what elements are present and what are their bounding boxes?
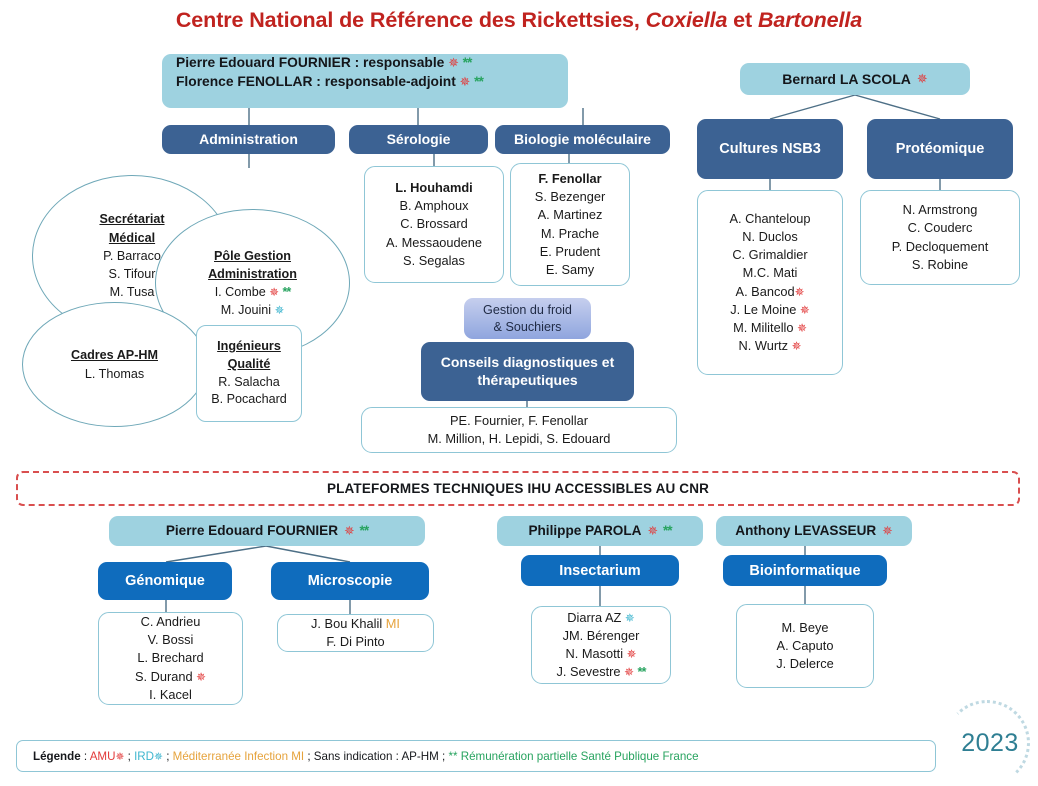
biomol-member: S. Bezenger <box>535 188 605 206</box>
secretariat-head-line2: Médical <box>109 229 155 247</box>
genomique-member: I. Kacel <box>149 686 192 704</box>
pole-gestion-head-line2: Administration <box>208 265 297 283</box>
leadership-role-adjoint: : responsable-adjoint <box>312 74 455 89</box>
member-name: M. Militello <box>733 320 793 335</box>
title-part-1: Centre National de Référence des Rickett… <box>176 8 646 32</box>
member-name: S. Durand <box>135 669 193 684</box>
cadres-head: Cadres AP-HM <box>71 346 158 364</box>
member-name: Diarra AZ <box>567 610 621 625</box>
organigramme-canvas: Centre National de Référence des Rickett… <box>0 0 1038 779</box>
amu-gear-icon: ✵ <box>797 323 807 335</box>
biomol-lead: F. Fenollar <box>538 170 601 188</box>
pole-gestion-member: I. Combe ✵ ** <box>215 283 291 301</box>
secretariat-member: M. Tusa <box>110 283 155 301</box>
microscopie-member: J. Bou Khalil MI <box>311 615 400 633</box>
legend-sep: : <box>81 750 90 763</box>
amu-gear-icon: ✵ <box>917 73 928 86</box>
member-name: J. Le Moine <box>730 302 796 317</box>
stars-icon: ** <box>283 285 291 299</box>
title-italic-coxiella: Coxiella <box>646 8 728 32</box>
card-bioinformatique-members[interactable]: M. Beye A. Caputo J. Delerce <box>736 604 874 688</box>
nsb3-member: N. Duclos <box>742 228 797 246</box>
genomique-member: C. Andrieu <box>141 613 201 631</box>
nsb3-member: M. Militello ✵ <box>733 319 807 337</box>
ingenieurs-head-line1: Ingénieurs <box>217 338 281 356</box>
leadership-name-fenollar: Florence FENOLLAR <box>176 74 312 89</box>
plateforme-head-name: Philippe PAROLA <box>528 522 641 540</box>
stars-icon: ** <box>360 522 369 540</box>
unit-label: Bioinformatique <box>749 563 860 579</box>
proteomique-member: S. Robine <box>912 256 968 274</box>
proteomique-member: P. Decloquement <box>892 238 989 256</box>
insectarium-member: JM. Bérenger <box>563 627 640 645</box>
box-conseils-diagnostiques[interactable]: Conseils diagnostiques et thérapeutiques <box>421 342 634 401</box>
member-name: N. Wurtz <box>739 338 789 353</box>
legend-ird: IRD <box>134 750 154 763</box>
la-scola-header-box[interactable]: Bernard LA SCOLA ✵ <box>740 63 970 95</box>
ird-gear-icon: ✵ <box>154 752 163 763</box>
amu-gear-icon: ✵ <box>344 525 354 538</box>
genomique-member: V. Bossi <box>148 631 194 649</box>
nsb3-member: A. Bancod✵ <box>736 283 805 301</box>
ird-gear-icon: ✵ <box>275 306 285 318</box>
conseils-line2: thérapeutiques <box>477 372 577 390</box>
amu-gear-icon: ✵ <box>624 667 634 679</box>
branch-cultures-nsb3[interactable]: Cultures NSB3 <box>697 119 843 179</box>
proteomique-member: N. Armstrong <box>903 201 978 219</box>
title-italic-bartonella: Bartonella <box>758 8 862 32</box>
nsb3-member: J. Le Moine ✵ <box>730 301 810 319</box>
serologie-member: A. Messaoudene <box>386 234 482 252</box>
branch-serologie[interactable]: Sérologie <box>349 125 488 154</box>
card-ingenieurs-qualite[interactable]: Ingénieurs Qualité R. Salacha B. Pocacha… <box>196 325 302 422</box>
nsb3-member: M.C. Mati <box>743 264 798 282</box>
card-serologie-members[interactable]: L. Houhamdi B. Amphoux C. Brossard A. Me… <box>364 166 504 283</box>
proteomique-member: C. Couderc <box>908 219 973 237</box>
ellipse-cadres-ap-hm[interactable]: Cadres AP-HM L. Thomas <box>22 302 207 427</box>
genomique-member: S. Durand ✵ <box>135 668 206 686</box>
unit-insectarium[interactable]: Insectarium <box>521 555 679 586</box>
amu-gear-icon: ✵ <box>800 305 810 317</box>
member-name: N. Masotti <box>565 646 623 661</box>
stars-icon: ** <box>474 74 483 89</box>
year-value: 2023 <box>961 729 1019 758</box>
member-name: M. Jouini <box>221 303 271 317</box>
card-conseils-members[interactable]: PE. Fournier, F. Fenollar M. Million, H.… <box>361 407 677 453</box>
amu-gear-icon: ✵ <box>460 76 471 89</box>
legend-sep: ; <box>124 750 134 763</box>
amu-gear-icon: ✵ <box>795 287 805 299</box>
leadership-line-1: Pierre Edouard FOURNIER : responsable ✵ … <box>176 54 471 73</box>
amu-gear-icon: ✵ <box>882 525 892 538</box>
member-name: J. Sevestre <box>557 664 621 679</box>
member-name: J. Bou Khalil <box>311 616 382 631</box>
mi-marker: MI <box>386 616 400 631</box>
legend-stars: ** Rémunération partielle Santé Publique… <box>448 750 698 763</box>
plateformes-banner-label: PLATEFORMES TECHNIQUES IHU ACCESSIBLES A… <box>327 481 709 496</box>
unit-microscopie[interactable]: Microscopie <box>271 562 429 600</box>
serologie-member: B. Amphoux <box>399 197 468 215</box>
legend-sep: ; <box>163 750 173 763</box>
box-gestion-du-froid[interactable]: Gestion du froid & Souchiers <box>464 298 591 339</box>
legend-content: Légende : AMU✵ ; IRD✵ ; Méditerranée Inf… <box>33 750 699 763</box>
biomol-member: E. Samy <box>546 261 594 279</box>
legend-bar[interactable]: Légende : AMU✵ ; IRD✵ ; Méditerranée Inf… <box>16 740 936 772</box>
card-biologie-moleculaire-members[interactable]: F. Fenollar S. Bezenger A. Martinez M. P… <box>510 163 630 286</box>
secretariat-member: S. Tifour <box>109 265 156 283</box>
leadership-name-fournier: Pierre Edouard FOURNIER <box>176 55 351 70</box>
amu-gear-icon: ✵ <box>627 649 637 661</box>
branch-biologie-moleculaire[interactable]: Biologie moléculaire <box>495 125 670 154</box>
branch-label: Protéomique <box>896 140 985 158</box>
biomol-member: A. Martinez <box>538 206 603 224</box>
unit-label: Génomique <box>125 573 205 589</box>
card-genomique-members[interactable]: C. Andrieu V. Bossi L. Brechard S. Duran… <box>98 612 243 705</box>
insectarium-member: J. Sevestre ✵ ** <box>557 663 646 681</box>
unit-genomique[interactable]: Génomique <box>98 562 232 600</box>
plateforme-head-parola[interactable]: Philippe PAROLA ✵ ** <box>497 516 703 546</box>
card-cultures-nsb3-members[interactable]: A. Chanteloup N. Duclos C. Grimaldier M.… <box>697 190 843 375</box>
branch-administration[interactable]: Administration <box>162 125 335 154</box>
biomol-member: M. Prache <box>541 225 599 243</box>
conseils-members-line1: PE. Fournier, F. Fenollar <box>450 412 588 430</box>
la-scola-name: Bernard LA SCOLA <box>782 70 911 89</box>
plateformes-banner[interactable]: PLATEFORMES TECHNIQUES IHU ACCESSIBLES A… <box>16 471 1020 506</box>
biomol-member: E. Prudent <box>540 243 600 261</box>
conseils-members-line2: M. Million, H. Lepidi, S. Edouard <box>428 430 611 448</box>
card-microscopie-members[interactable]: J. Bou Khalil MI F. Di Pinto <box>277 614 434 652</box>
legend-label: Légende <box>33 750 81 763</box>
gestion-froid-line2: & Souchiers <box>494 319 562 336</box>
leadership-line-2: Florence FENOLLAR : responsable-adjoint … <box>176 73 483 92</box>
cadres-member: L. Thomas <box>85 365 144 383</box>
branch-label: Biologie moléculaire <box>514 131 651 149</box>
amu-gear-icon: ✵ <box>196 672 206 684</box>
amu-gear-icon: ✵ <box>269 288 279 300</box>
amu-gear-icon: ✵ <box>792 341 802 353</box>
bioinformatique-member: J. Delerce <box>776 655 834 673</box>
branch-label: Cultures NSB3 <box>719 140 821 158</box>
legend-aphm: Sans indication : AP-HM <box>314 750 439 763</box>
stars-icon: ** <box>638 664 646 679</box>
legend-amu: AMU <box>90 750 116 763</box>
title-part-2: et <box>727 8 758 32</box>
legend-sep: ; <box>304 750 314 763</box>
amu-gear-icon: ✵ <box>647 525 657 538</box>
secretariat-member: P. Barraco <box>103 247 161 265</box>
ird-gear-icon: ✵ <box>625 613 635 625</box>
bioinformatique-member: M. Beye <box>782 619 829 637</box>
serologie-member: C. Brossard <box>400 215 468 233</box>
branch-proteomique[interactable]: Protéomique <box>867 119 1013 179</box>
amu-gear-icon: ✵ <box>448 57 459 70</box>
gestion-froid-line1: Gestion du froid <box>483 302 572 319</box>
secretariat-head-line1: Secrétariat <box>99 210 164 228</box>
plateforme-head-name: Anthony LEVASSEUR <box>735 522 876 540</box>
card-proteomique-members[interactable]: N. Armstrong C. Couderc P. Decloquement … <box>860 190 1020 285</box>
branch-label: Sérologie <box>387 131 451 149</box>
member-name: I. Combe <box>215 285 266 299</box>
ingenieurs-member: R. Salacha <box>218 374 280 392</box>
serologie-member: S. Segalas <box>403 252 465 270</box>
unit-label: Microscopie <box>308 573 393 589</box>
legend-mi: Méditerranée Infection MI <box>173 750 304 763</box>
leadership-header-box[interactable]: Pierre Edouard FOURNIER : responsable ✵ … <box>162 54 568 108</box>
unit-bioinformatique[interactable]: Bioinformatique <box>723 555 887 586</box>
card-insectarium-members[interactable]: Diarra AZ ✵ JM. Bérenger N. Masotti ✵ J.… <box>531 606 671 684</box>
stars-icon: ** <box>463 55 472 70</box>
year-label: 2023 <box>950 726 1030 760</box>
pole-gestion-head-line1: Pôle Gestion <box>214 247 291 265</box>
leadership-role-responsable: : responsable <box>351 55 445 70</box>
unit-label: Insectarium <box>559 563 640 579</box>
ingenieurs-head-line2: Qualité <box>228 356 271 374</box>
member-name: A. Bancod <box>736 284 795 299</box>
genomique-member: L. Brechard <box>137 649 203 667</box>
branch-label: Administration <box>199 131 298 149</box>
pole-gestion-member: M. Jouini ✵ <box>221 301 285 319</box>
conseils-line1: Conseils diagnostiques et <box>441 354 614 372</box>
plateforme-head-name: Pierre Edouard FOURNIER <box>166 522 338 540</box>
microscopie-member: F. Di Pinto <box>326 633 384 651</box>
ingenieurs-member: B. Pocachard <box>211 391 287 409</box>
page-title: Centre National de Référence des Rickett… <box>0 8 1038 33</box>
insectarium-member: N. Masotti ✵ <box>565 645 636 663</box>
plateforme-head-levasseur[interactable]: Anthony LEVASSEUR ✵ <box>716 516 912 546</box>
plateforme-head-fournier[interactable]: Pierre Edouard FOURNIER ✵ ** <box>109 516 425 546</box>
bioinformatique-member: A. Caputo <box>777 637 834 655</box>
insectarium-member: Diarra AZ ✵ <box>567 609 634 627</box>
serologie-lead: L. Houhamdi <box>395 179 473 197</box>
nsb3-member: C. Grimaldier <box>732 246 807 264</box>
nsb3-member: N. Wurtz ✵ <box>739 337 802 355</box>
nsb3-member: A. Chanteloup <box>729 210 810 228</box>
stars-icon: ** <box>663 522 672 540</box>
